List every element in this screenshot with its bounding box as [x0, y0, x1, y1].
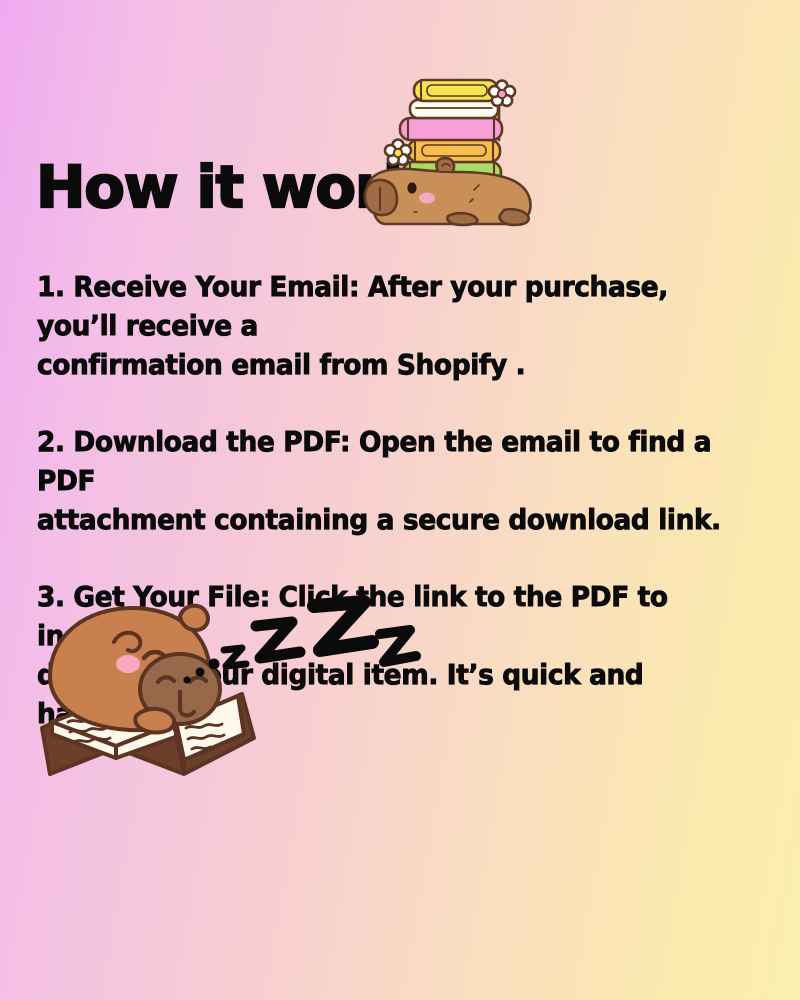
capybara-back-foot: [500, 209, 529, 225]
step-2-line-2: attachment containing a secure download …: [37, 501, 738, 540]
capybara-paw: [135, 709, 174, 732]
step-1-line-2: confirmation email from Shopify .: [37, 346, 738, 385]
capybara-with-book-stack-illustration: [352, 58, 552, 240]
step-2-line-1: 2. Download the PDF: Open the email to f…: [37, 423, 738, 501]
step-1-line-1: 1. Receive Your Email: After your purcha…: [37, 268, 738, 346]
capybara-ear: [180, 606, 208, 630]
poster-canvas: How it works: [0, 0, 800, 1000]
capybara-blush: [419, 193, 435, 204]
sleep-zzz: [224, 602, 416, 666]
capybara-front-foot: [447, 213, 477, 225]
sleeping-capybara-illustration: [28, 588, 428, 793]
step-item-2: 2. Download the PDF: Open the email to f…: [37, 423, 767, 540]
book-pink: [400, 118, 502, 140]
capybara-body: [365, 158, 531, 225]
flower-lower: [385, 140, 411, 165]
capybara-blush: [116, 655, 140, 673]
sleeping-capybara: [50, 606, 220, 733]
capybara-eye: [407, 182, 416, 193]
book-orange: [408, 140, 500, 162]
step-item-1: 1. Receive Your Email: After your purcha…: [37, 268, 767, 385]
book-white: [410, 100, 498, 118]
book-yellow: [414, 80, 498, 101]
